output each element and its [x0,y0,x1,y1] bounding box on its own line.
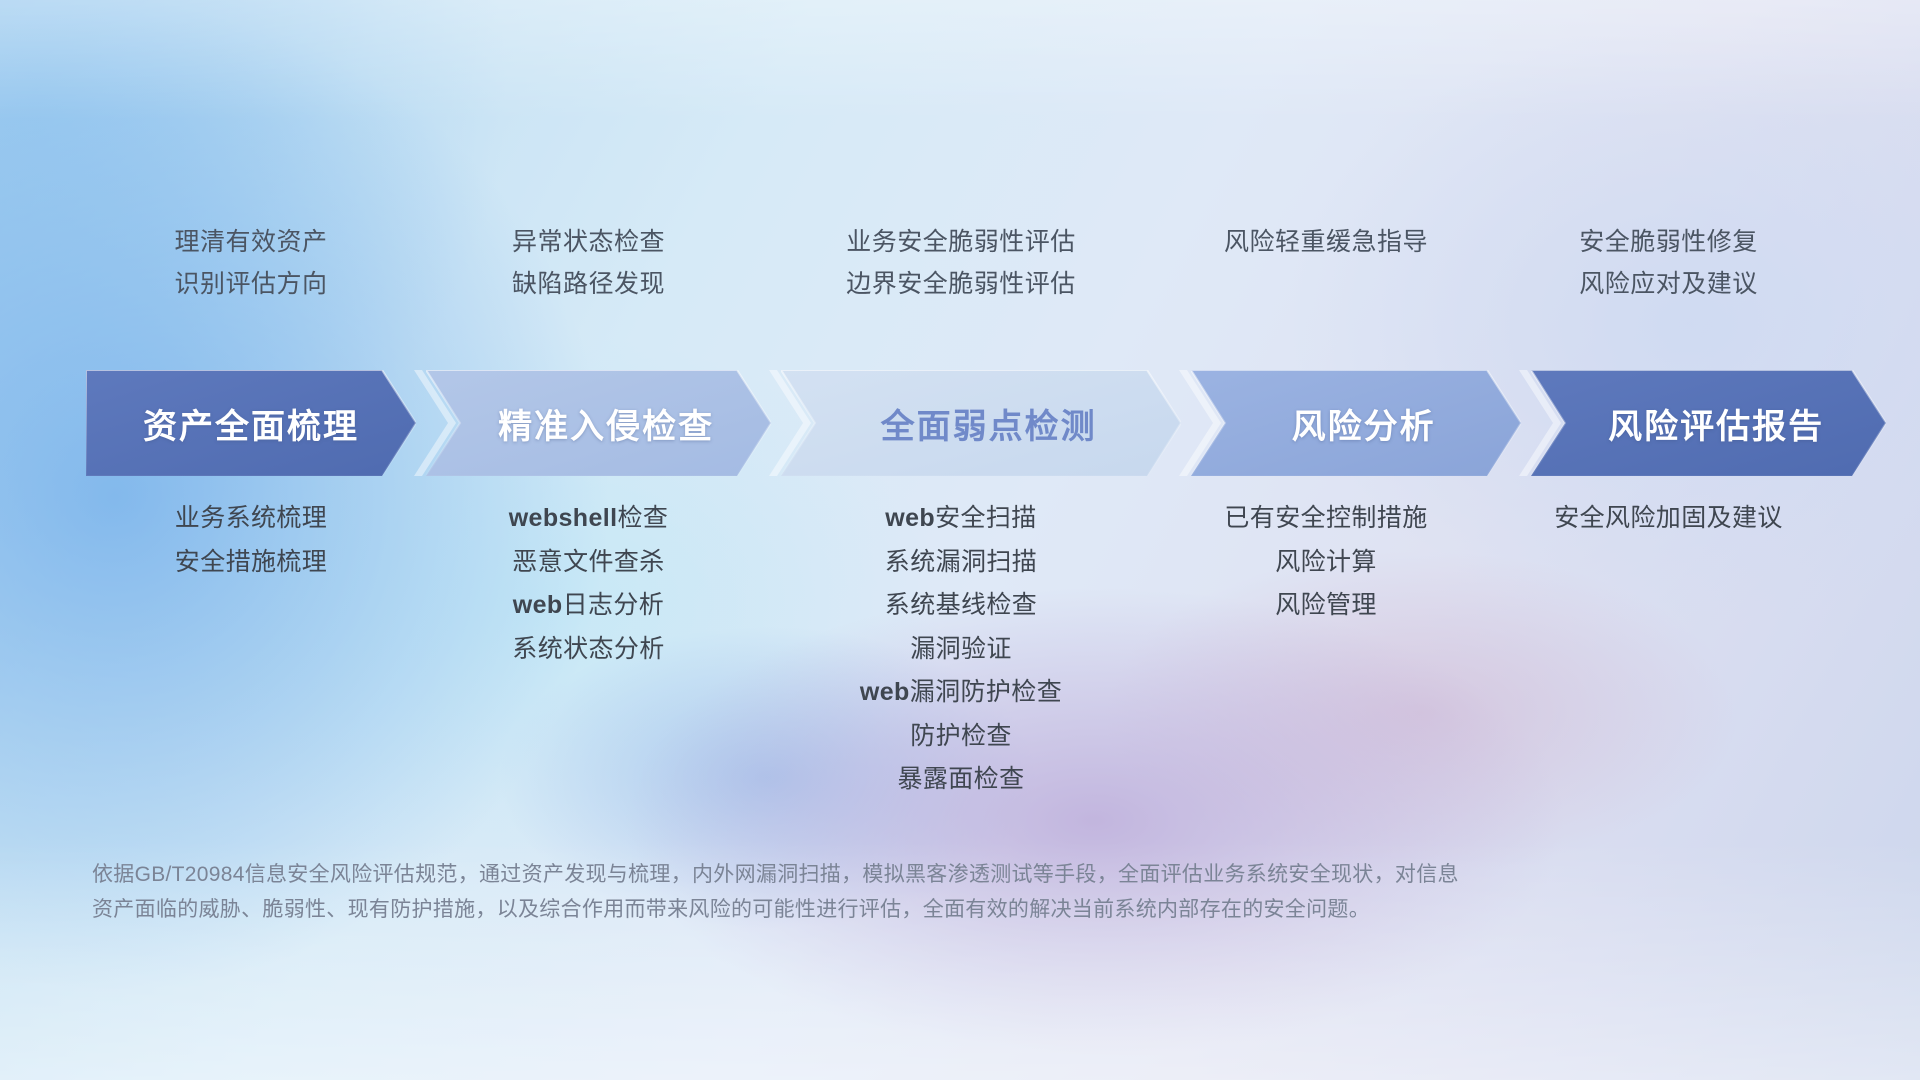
footer-line-1: 依据GB/T20984信息安全风险评估规范，通过资产发现与梳理，内外网漏洞扫描，… [92,858,1572,893]
detail-item: 漏洞验证 [910,636,1012,664]
detail-item-latin: webshell [509,504,618,532]
detail-item: 已有安全控制措施 [1224,505,1427,533]
stage-title: 全面弱点检测 [881,399,1097,448]
detail-item: web安全扫描 [885,505,1036,533]
top-note: 异常状态检查 [512,230,665,255]
top-note: 识别评估方向 [174,272,327,297]
detail-item-cjk: 漏洞防护检查 [910,678,1062,706]
top-notes-col-risk-analysis: 风险轻重缓急指导 [1161,230,1491,340]
detail-item-cjk: 安全扫描 [935,504,1037,532]
detail-item: 暴露面检查 [897,766,1024,794]
top-notes-row: 理清有效资产识别评估方向异常状态检查缺陷路径发现业务安全脆弱性评估边界安全脆弱性… [86,230,1846,340]
bottom-detail-lists: 业务系统梳理安全措施梳理webshell检查恶意文件查杀web日志分析系统状态分… [86,505,1846,794]
detail-list-full-weakness-detection: web安全扫描系统漏洞扫描系统基线检查漏洞验证web漏洞防护检查防护检查暴露面检… [761,505,1161,794]
detail-list-asset-inventory: 业务系统梳理安全措施梳理 [86,505,416,794]
detail-item: 风险计算 [1275,549,1377,577]
detail-item: 安全措施梳理 [175,549,327,577]
detail-item-latin: web [860,678,910,706]
top-notes-col-full-weakness-detection: 业务安全脆弱性评估边界安全脆弱性评估 [761,230,1161,340]
stage-title: 资产全面梳理 [143,399,359,448]
detail-item: 防护检查 [910,723,1012,751]
top-notes-col-precise-intrusion-check: 异常状态检查缺陷路径发现 [416,230,761,340]
slide-canvas: 理清有效资产识别评估方向异常状态检查缺陷路径发现业务安全脆弱性评估边界安全脆弱性… [0,0,1920,1080]
stage-arrow-full-weakness-detection[interactable]: 全面弱点检测 [781,370,1181,476]
stage-arrow-asset-inventory[interactable]: 资产全面梳理 [86,370,416,476]
detail-item: web漏洞防护检查 [860,679,1062,707]
detail-item: 系统漏洞扫描 [885,549,1037,577]
stage-arrow-risk-analysis[interactable]: 风险分析 [1191,370,1521,476]
detail-item-latin: web [513,591,563,619]
top-note: 缺陷路径发现 [512,272,665,297]
top-note: 风险应对及建议 [1579,272,1758,297]
detail-item: 业务系统梳理 [175,505,327,533]
stage-title: 风险分析 [1292,399,1436,448]
detail-item: web日志分析 [513,592,664,620]
top-notes-col-risk-assessment-report: 安全脆弱性修复风险应对及建议 [1491,230,1846,340]
detail-item: 安全风险加固及建议 [1554,505,1783,533]
top-note: 理清有效资产 [174,230,327,255]
process-arrow-band: 资产全面梳理精准入侵检查全面弱点检测风险分析风险评估报告 [86,370,1846,476]
stage-arrow-risk-assessment-report[interactable]: 风险评估报告 [1531,370,1886,476]
top-note: 边界安全脆弱性评估 [846,272,1076,297]
top-note: 安全脆弱性修复 [1579,230,1758,255]
stage-arrow-precise-intrusion-check[interactable]: 精准入侵检查 [426,370,771,476]
detail-item: 系统状态分析 [512,636,664,664]
detail-list-risk-analysis: 已有安全控制措施风险计算风险管理 [1161,505,1491,794]
detail-list-risk-assessment-report: 安全风险加固及建议 [1491,505,1846,794]
detail-item-cjk: 检查 [617,504,668,532]
detail-item: 恶意文件查杀 [512,549,664,577]
detail-item: 系统基线检查 [885,592,1037,620]
footer-description: 依据GB/T20984信息安全风险评估规范，通过资产发现与梳理，内外网漏洞扫描，… [92,858,1572,927]
detail-list-precise-intrusion-check: webshell检查恶意文件查杀web日志分析系统状态分析 [416,505,761,794]
top-notes-col-asset-inventory: 理清有效资产识别评估方向 [86,230,416,340]
top-note: 业务安全脆弱性评估 [846,230,1076,255]
footer-line-2: 资产面临的威胁、脆弱性、现有防护措施，以及综合作用而带来风险的可能性进行评估，全… [92,893,1572,928]
detail-item: webshell检查 [509,505,669,533]
stage-title: 风险评估报告 [1608,399,1824,448]
detail-item: 风险管理 [1275,592,1377,620]
stage-title: 精准入侵检查 [498,399,714,448]
detail-item-cjk: 日志分析 [563,591,665,619]
top-note: 风险轻重缓急指导 [1224,230,1428,255]
detail-item-latin: web [885,504,935,532]
